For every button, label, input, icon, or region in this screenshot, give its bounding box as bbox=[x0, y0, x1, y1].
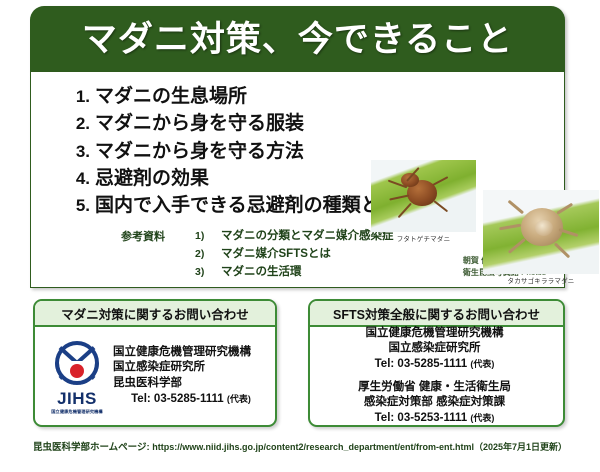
topic-number: 4. bbox=[69, 169, 95, 189]
jihs-red-dot-icon bbox=[70, 364, 84, 378]
topic-number: 5. bbox=[69, 196, 95, 216]
topic-label: 忌避剤の効果 bbox=[95, 168, 209, 189]
contact-box-body: JIHS 国立健康危機管理研究機構 国立健康危機管理研究機構 国立感染症研究所 … bbox=[35, 327, 275, 425]
topic-number: 3. bbox=[69, 142, 95, 162]
contact-telephone: Tel: 03-5285-1111 (代表) bbox=[316, 357, 553, 373]
reference-item-2: 2) マダニ媒介SFTSとは bbox=[195, 245, 394, 261]
tick-photo-2 bbox=[483, 190, 599, 274]
contact-box-sfts-measures: SFTS対策全般に関するお問い合わせ 国立健康危機管理研究機構 国立感染症研究所… bbox=[308, 299, 565, 427]
footer-label: 昆虫医科学部ホームページ: bbox=[33, 442, 152, 453]
topic-number: 2. bbox=[69, 114, 95, 134]
footer-updated-date: （2025年7月1日更新） bbox=[474, 442, 567, 452]
references-heading: 参考資料 bbox=[121, 227, 195, 244]
topic-label: マダニから身を守る服装 bbox=[95, 113, 304, 134]
references-list: 1) マダニの分類とマダニ媒介感染症 2) マダニ媒介SFTSとは 3) マダニ… bbox=[195, 227, 394, 281]
contact-box-header: マダニ対策に関するお問い合わせ bbox=[35, 301, 275, 327]
contact-telephone-note: (代表) bbox=[470, 359, 494, 369]
contact-line: 国立感染症研究所 bbox=[316, 341, 553, 357]
reference-number: 2) bbox=[195, 248, 221, 260]
contact-header-label: SFTS対策全般に関するお問い合わせ bbox=[333, 304, 540, 323]
topic-item-4: 4. 忌避剤の効果 bbox=[69, 168, 389, 189]
reference-number: 3) bbox=[195, 266, 221, 278]
topic-item-2: 2. マダニから身を守る服装 bbox=[69, 113, 389, 134]
reference-item-3: 3) マダニの生活環 bbox=[195, 263, 394, 279]
contact-telephone-note: (代表) bbox=[227, 394, 251, 404]
contact-telephone-number: Tel: 03-5253-1111 bbox=[375, 412, 468, 424]
contact-telephone: Tel: 03-5253-1111 (代表) bbox=[316, 411, 553, 427]
reference-label: マダニの生活環 bbox=[221, 263, 302, 279]
topic-label: マダニから身を守る方法 bbox=[95, 141, 304, 162]
contact-address-lines: 国立健康危機管理研究機構 国立感染症研究所 Tel: 03-5285-1111 … bbox=[316, 326, 557, 426]
contact-header-label: マダニ対策に関するお問い合わせ bbox=[61, 304, 249, 323]
contact-telephone-number: Tel: 03-5285-1111 bbox=[131, 393, 224, 405]
references-block: 参考資料 1) マダニの分類とマダニ媒介感染症 2) マダニ媒介SFTSとは 3… bbox=[121, 227, 394, 281]
tick-photo-2-caption: タカサゴキララマダニ bbox=[483, 275, 599, 285]
slide-root: マダニ対策、今できること 1. マダニの生息場所 2. マダニから身を守る服装 … bbox=[0, 0, 600, 472]
topic-number: 1. bbox=[69, 87, 95, 107]
reference-number: 1) bbox=[195, 230, 221, 242]
topic-list: 1. マダニの生息場所 2. マダニから身を守る服装 3. マダニから身を守る方… bbox=[69, 86, 389, 222]
contact-line: 国立健康危機管理研究機構 bbox=[316, 326, 553, 342]
contact-telephone: Tel: 03-5285-1111 (代表) bbox=[113, 392, 269, 408]
contact-line: 国立健康危機管理研究機構 bbox=[113, 345, 269, 361]
contact-line: 厚生労働省 健康・生活衛生局 bbox=[316, 380, 553, 396]
page-title: マダニ対策、今できること bbox=[82, 22, 513, 57]
jihs-logo: JIHS 国立健康危機管理研究機構 bbox=[41, 337, 113, 415]
jihs-emblem-icon bbox=[52, 339, 102, 389]
contact-line: 国立感染症研究所 bbox=[113, 360, 269, 376]
topic-label: 国内で入手できる忌避剤の種類と特徴 bbox=[95, 195, 418, 216]
contact-box-header: SFTS対策全般に関するお問い合わせ bbox=[310, 301, 563, 327]
contact-box-tick-measures: マダニ対策に関するお問い合わせ JIHS 国立健康危機管理研究機構 国立健康危機… bbox=[33, 299, 277, 427]
main-content-panel: 1. マダニの生息場所 2. マダニから身を守る服装 3. マダニから身を守る方… bbox=[30, 72, 565, 288]
tick-scutum-icon bbox=[535, 220, 553, 236]
topic-item-1: 1. マダニの生息場所 bbox=[69, 86, 389, 107]
reference-label: マダニの分類とマダニ媒介感染症 bbox=[221, 227, 394, 243]
tick-photo-1-caption: フタトゲチマダニ bbox=[371, 233, 476, 243]
footer: 昆虫医科学部ホームページ: https://www.niid.jihs.go.j… bbox=[0, 437, 600, 455]
reference-item-1: 1) マダニの分類とマダニ媒介感染症 bbox=[195, 227, 394, 243]
topic-label: マダニの生息場所 bbox=[95, 86, 247, 107]
contact-address-lines: 国立健康危機管理研究機構 国立感染症研究所 昆虫医科学部 Tel: 03-528… bbox=[113, 345, 269, 407]
contact-telephone-number: Tel: 03-5285-1111 bbox=[375, 358, 468, 370]
contact-line: 感染症対策部 感染症対策課 bbox=[316, 395, 553, 411]
jihs-subtext: 国立健康危機管理研究機構 bbox=[41, 409, 113, 415]
contact-line: 昆虫医科学部 bbox=[113, 376, 269, 392]
topic-item-3: 3. マダニから身を守る方法 bbox=[69, 141, 389, 162]
footer-url[interactable]: https://www.niid.jihs.go.jp/content2/res… bbox=[152, 442, 474, 452]
topic-item-5: 5. 国内で入手できる忌避剤の種類と特徴 bbox=[69, 195, 389, 216]
reference-label: マダニ媒介SFTSとは bbox=[221, 245, 331, 261]
contact-box-body: 国立健康危機管理研究機構 国立感染症研究所 Tel: 03-5285-1111 … bbox=[310, 327, 563, 425]
title-banner: マダニ対策、今できること bbox=[30, 6, 565, 72]
jihs-wordmark: JIHS bbox=[41, 390, 113, 408]
tick-photo-1 bbox=[371, 160, 476, 232]
contact-telephone-note: (代表) bbox=[470, 413, 494, 423]
